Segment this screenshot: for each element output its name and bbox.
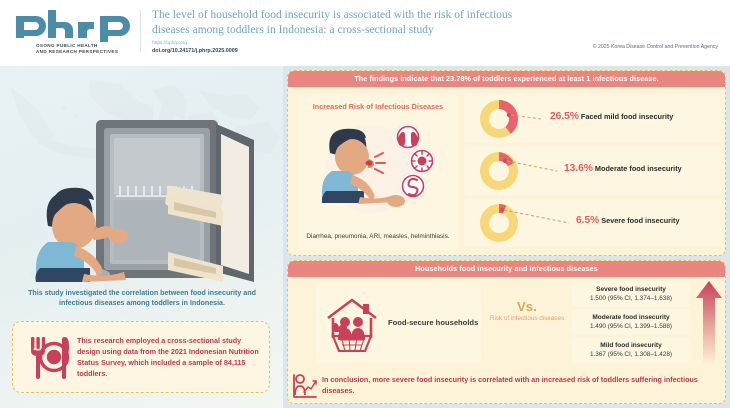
vs-word: Vs. [488, 299, 566, 314]
phrp-logo-icon [14, 10, 132, 42]
toddler-empty-refrigerator-illustration [18, 114, 266, 286]
donut-label-moderate: 13.6% Moderate food insecurity [564, 163, 682, 174]
households-banner: Households food insecurity and infectiou… [288, 261, 725, 277]
stat-row-mild: Mild food insecurity 1.367 (95% CI, 1.30… [572, 337, 690, 363]
donut-row-moderate: 13.6% Moderate food insecurity [464, 147, 722, 195]
illustration-title: Increased Risk of Infectious Diseases [298, 102, 458, 111]
findings-card: The findings indicate that 23.78% of tod… [287, 70, 726, 256]
donut-row-mild: 26.5% Faced mild food insecurity [464, 95, 722, 143]
left-caption: This study investigated the correlation … [16, 288, 268, 309]
donut-value-severe: 6.5% [576, 215, 599, 226]
doi-link[interactable]: doi.org/10.24171/j.phrp.2025.0009 [152, 48, 238, 55]
virus-icon [409, 148, 435, 174]
stat-name-mild: Mild food insecurity [574, 341, 688, 350]
donut-chart-mild [469, 97, 545, 141]
donut-chart-moderate [469, 149, 561, 193]
stat-name-severe: Severe food insecurity [574, 285, 688, 294]
food-secure-label: Food-secure households [388, 318, 478, 329]
donut-row-severe: 6.5% Severe food insecurity [464, 199, 722, 247]
stat-row-moderate: Moderate food insecurity 1.490 (95% CI, … [572, 309, 690, 335]
copyright-notice: © 2025 Korea Disease Control and Prevent… [593, 44, 718, 50]
donut-value-mild: 26.5% [550, 111, 579, 122]
illustration-caption: Diarrhea, pneumonia, ARI, measles, helmi… [306, 232, 450, 241]
stat-list: Severe food insecurity 1.500 (95% CI, 1.… [572, 281, 690, 365]
phrp-logo: OSONG PUBLIC HEALTH AND RESEARCH PERSPEC… [14, 10, 132, 55]
vs-subtitle: Risk of infectious diseases [488, 315, 566, 324]
stat-value-moderate: 1.490 (95% CI, 1.399–1.588) [574, 322, 688, 331]
comparison-section: Food-secure households Vs. Risk of infec… [288, 277, 726, 367]
donut-chart-severe [469, 201, 573, 245]
disease-illustration-card: Increased Risk of Infectious Diseases [298, 95, 458, 250]
donut-name-mild: Faced mild food insecurity [581, 112, 673, 121]
person-chart-icon [288, 373, 322, 399]
conclusion-text: In conclusion, more severe food insecuri… [322, 375, 726, 396]
header-divider [140, 10, 141, 52]
households-card: Households food insecurity and infectiou… [287, 260, 726, 404]
family-house-basket-icon [316, 294, 388, 352]
stat-value-mild: 1.367 (95% CI, 1.308–1.428) [574, 350, 688, 359]
donut-label-severe: 6.5% Severe food insecurity [576, 215, 680, 226]
stat-value-severe: 1.500 (95% CI, 1.374–1.638) [574, 294, 688, 303]
donut-name-severe: Severe food insecurity [601, 216, 679, 225]
logo-subtitle-line2: AND RESEARCH PERSPECTIVES [36, 49, 132, 55]
right-panel: The findings indicate that 23.78% of tod… [283, 66, 730, 408]
donut-label-mild: 26.5% Faced mild food insecurity [550, 111, 673, 122]
lungs-icon [395, 124, 421, 150]
journal-url[interactable]: https://ophrp.org [152, 41, 187, 47]
left-panel: This study investigated the correlation … [0, 66, 283, 408]
method-box: This research employed a cross-sectional… [12, 321, 270, 393]
donut-name-moderate: Moderate food insecurity [595, 164, 682, 173]
cutlery-plate-icon [23, 335, 75, 379]
vs-block: Vs. Risk of infectious diseases [488, 299, 566, 324]
conclusion-section: In conclusion, more severe food insecuri… [288, 369, 726, 403]
bacteria-icon [400, 173, 426, 199]
findings-banner: The findings indicate that 23.78% of tod… [288, 71, 725, 87]
page-title: The level of household food insecurity i… [152, 8, 552, 37]
sick-toddler-illustration [312, 117, 444, 217]
up-arrow-icon [696, 281, 722, 370]
stat-row-severe: Severe food insecurity 1.500 (95% CI, 1.… [572, 281, 690, 307]
stat-name-moderate: Moderate food insecurity [574, 313, 688, 322]
infographic-page: OSONG PUBLIC HEALTH AND RESEARCH PERSPEC… [0, 0, 730, 408]
food-secure-households-box: Food-secure households [316, 283, 481, 363]
page-header: OSONG PUBLIC HEALTH AND RESEARCH PERSPEC… [0, 0, 730, 66]
donut-value-moderate: 13.6% [564, 163, 593, 174]
method-text: This research employed a cross-sectional… [75, 335, 259, 380]
